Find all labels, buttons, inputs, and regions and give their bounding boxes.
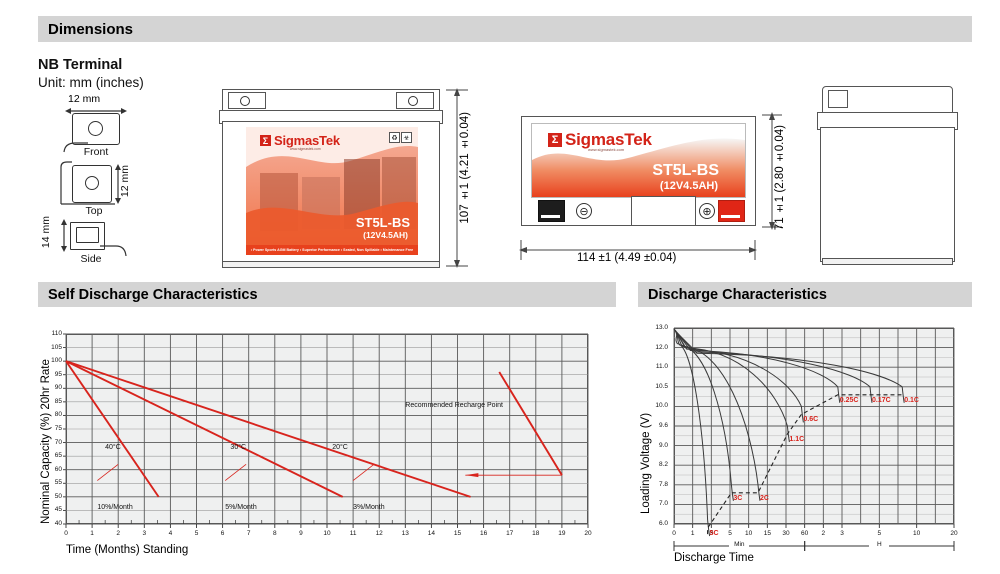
front-label-art: Σ SigmasTek www.sigmastek.com ♻ ☣ ST5L-B… xyxy=(246,127,418,255)
self-ytick: 80 xyxy=(40,411,62,418)
terminal-top-caption: Top xyxy=(66,205,122,217)
self-annotation: 40°C xyxy=(105,444,121,451)
section-header-self-discharge: Self Discharge Characteristics xyxy=(38,282,616,307)
discharge-ytick: 8.2 xyxy=(644,461,668,468)
self-xtick: 10 xyxy=(319,530,335,537)
discharge-ytick: 12.0 xyxy=(644,344,668,351)
terminal-width-label: 12 mm xyxy=(68,93,100,105)
self-annotation: Recommended Recharge Point xyxy=(405,402,503,409)
terminal-height-arrow xyxy=(58,219,70,253)
side-base xyxy=(822,258,953,265)
discharge-chart: Loading Voltage (V) Discharge Time 6.07.… xyxy=(638,316,972,574)
self-xtick: 19 xyxy=(554,530,570,537)
discharge-xtick-min: 30 xyxy=(778,530,794,537)
top-label-model: ST5L-BS xyxy=(652,162,719,180)
self-xtick: 6 xyxy=(215,530,231,537)
brand-url: www.sigmastek.com xyxy=(588,147,624,152)
negative-polarity-icon: ⊖ xyxy=(576,203,592,219)
sigma-logo-icon: Σ xyxy=(260,135,271,146)
self-ytick: 65 xyxy=(40,452,62,459)
recycle-icon: ♻ xyxy=(389,132,400,143)
self-xtick: 9 xyxy=(293,530,309,537)
discharge-ytick: 10.0 xyxy=(644,402,668,409)
discharge-xlabel: Discharge Time xyxy=(674,552,754,564)
discharge-ytick: 13.0 xyxy=(644,324,668,331)
discharge-ytick: 9.0 xyxy=(644,442,668,449)
terminal-front-caption: Front xyxy=(68,146,124,158)
discharge-ytick: 7.8 xyxy=(644,481,668,488)
self-xtick: 11 xyxy=(345,530,361,537)
self-xtick: 16 xyxy=(476,530,492,537)
self-annotation: 5%/Month xyxy=(225,504,257,511)
discharge-xtick-min: 1 xyxy=(685,530,701,537)
discharge-curve-label: 1.1C xyxy=(789,436,804,443)
self-xtick: 7 xyxy=(241,530,257,537)
discharge-curve-label: 0.1C xyxy=(904,397,919,404)
self-ytick: 95 xyxy=(40,371,62,378)
discharge-xtick-hr: 3 xyxy=(834,530,850,537)
self-ytick: 55 xyxy=(40,479,62,486)
hazard-icon: ☣ xyxy=(401,132,412,143)
discharge-xtick-hr: 5 xyxy=(871,530,887,537)
positive-polarity-icon: ⊕ xyxy=(699,203,715,219)
self-ytick: 60 xyxy=(40,466,62,473)
discharge-curve-label: 5C xyxy=(710,530,719,537)
front-label-icons: ♻ ☣ xyxy=(389,132,412,143)
terminal-side-inner xyxy=(76,227,99,243)
negative-terminal-stripe xyxy=(541,215,560,218)
discharge-xtick-hr: 10 xyxy=(909,530,925,537)
discharge-xtick-hr: 2 xyxy=(815,530,831,537)
self-xtick: 2 xyxy=(110,530,126,537)
front-terminal-left-hole xyxy=(240,96,250,106)
self-xtick: 12 xyxy=(371,530,387,537)
discharge-curve-label: 2C xyxy=(760,495,769,502)
self-xtick: 8 xyxy=(267,530,283,537)
discharge-ytick: 9.6 xyxy=(644,422,668,429)
self-discharge-xlabel: Time (Months) Standing xyxy=(66,544,188,556)
discharge-xtick-min: 15 xyxy=(759,530,775,537)
top-width-label: 114 ±1 (4.49 ±0.04) xyxy=(577,252,676,264)
discharge-xtick-min: 10 xyxy=(741,530,757,537)
discharge-curve-label: 0.17C xyxy=(872,397,891,404)
self-discharge-lines xyxy=(38,316,616,566)
self-ytick: 105 xyxy=(40,344,62,351)
self-xtick: 14 xyxy=(423,530,439,537)
discharge-ytick: 7.0 xyxy=(644,500,668,507)
top-label-spec: (12V4.5AH) xyxy=(660,180,718,192)
self-annotation: 10%/Month xyxy=(97,504,132,511)
terminal-depth-label: 12 mm xyxy=(119,165,131,197)
self-annotation: 3%/Month xyxy=(353,504,385,511)
self-ytick: 40 xyxy=(40,520,62,527)
discharge-xtick-min: 0 xyxy=(666,530,682,537)
discharge-curve-label: 0.25C xyxy=(840,397,859,404)
self-xtick: 13 xyxy=(397,530,413,537)
brand-url: www.sigmastek.com xyxy=(290,147,321,151)
self-xtick: 20 xyxy=(580,530,596,537)
self-ytick: 50 xyxy=(40,493,62,500)
discharge-xtick-min: 60 xyxy=(797,530,813,537)
nb-terminal-title: NB Terminal xyxy=(38,57,122,73)
self-xtick: 5 xyxy=(189,530,205,537)
terminal-height-label: 14 mm xyxy=(40,216,52,248)
top-depth-label: 71 ±1 (2.80 ±0.04) xyxy=(774,125,786,230)
self-annotation: 30°C xyxy=(230,444,246,451)
discharge-xtick-min: 5 xyxy=(722,530,738,537)
self-ytick: 75 xyxy=(40,425,62,432)
front-height-label: 107 ±1 (4.21 ±0.04) xyxy=(459,112,471,224)
side-terminal xyxy=(828,90,848,108)
self-xtick: 18 xyxy=(528,530,544,537)
self-xtick: 17 xyxy=(502,530,518,537)
self-xtick: 0 xyxy=(58,530,74,537)
unit-note: Unit: mm (inches) xyxy=(38,75,144,90)
self-xtick: 15 xyxy=(450,530,466,537)
front-label-features: • Power Sports AGM Battery • Superior Pe… xyxy=(246,245,418,255)
section-header-discharge: Discharge Characteristics xyxy=(638,282,972,307)
discharge-ytick: 10.5 xyxy=(644,383,668,390)
self-discharge-chart: Nominal Capacity (%) 20hr Rate Time (Mon… xyxy=(38,316,616,566)
discharge-ylabel: Loading Voltage (V) xyxy=(640,354,652,514)
self-annotation: 20°C xyxy=(332,444,348,451)
side-case xyxy=(820,127,955,262)
self-xtick: 3 xyxy=(136,530,152,537)
datasheet-page: Dimensions NB Terminal Unit: mm (inches)… xyxy=(0,0,1000,574)
discharge-curve-label: 3C xyxy=(733,495,742,502)
self-ytick: 70 xyxy=(40,439,62,446)
front-label-spec: (12V4.5AH) xyxy=(363,230,408,240)
front-label-model: ST5L-BS xyxy=(356,215,410,230)
self-ytick: 100 xyxy=(40,357,62,364)
section-header-dimensions: Dimensions xyxy=(38,16,972,42)
self-xtick: 1 xyxy=(84,530,100,537)
discharge-curve-label: 0.6C xyxy=(803,416,818,423)
discharge-axis-range: H xyxy=(869,541,889,548)
self-ytick: 90 xyxy=(40,384,62,391)
self-ytick: 45 xyxy=(40,506,62,513)
top-label-art: Σ SigmasTek www.sigmastek.com ST5L-BS (1… xyxy=(531,123,746,198)
discharge-axis-range: Min xyxy=(729,541,749,548)
terminal-front-hole xyxy=(88,121,103,136)
terminal-side-caption: Side xyxy=(63,253,119,265)
front-base xyxy=(222,261,440,268)
top-terminal-tray xyxy=(631,196,696,226)
discharge-ytick: 11.0 xyxy=(644,363,668,370)
sigma-logo-icon: Σ xyxy=(548,133,562,147)
front-label-brand: Σ SigmasTek xyxy=(260,133,340,148)
negative-terminal-pad xyxy=(538,200,565,222)
front-terminal-right-hole xyxy=(408,96,418,106)
self-ytick: 110 xyxy=(40,330,62,337)
self-ytick: 85 xyxy=(40,398,62,405)
positive-terminal-pad xyxy=(718,200,745,222)
brand-name: SigmasTek xyxy=(274,133,340,148)
discharge-ytick: 6.0 xyxy=(644,520,668,527)
terminal-top-leader xyxy=(59,160,119,208)
positive-terminal-stripe xyxy=(721,215,740,218)
discharge-xtick-hr: 20 xyxy=(946,530,962,537)
self-xtick: 4 xyxy=(162,530,178,537)
